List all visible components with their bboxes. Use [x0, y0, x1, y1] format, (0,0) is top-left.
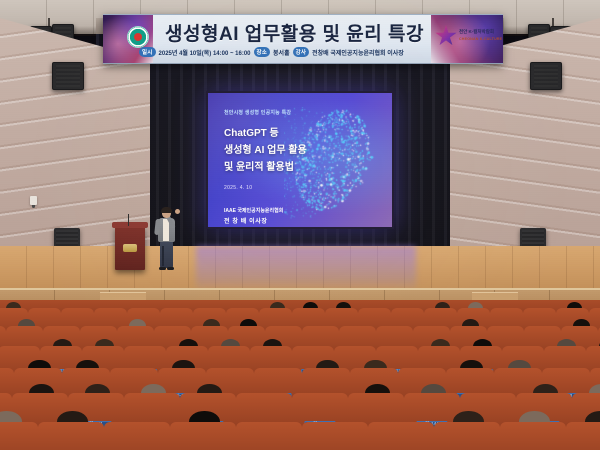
- audience-seating: 나-141나-142나-143나-144다-141다-142다-143다-144…: [0, 300, 600, 450]
- auditorium-photo: 생성형AI 업무활용 및 윤리 특강 일시 2025년 4월 10일(목) 14…: [0, 0, 600, 450]
- audience-seat: [172, 424, 234, 450]
- audience-seat: [568, 424, 600, 450]
- banner-tag-place: 장소: [254, 47, 271, 57]
- audience-seat: 나-142: [502, 424, 564, 450]
- podium-emblem-icon: [123, 244, 137, 252]
- slide-surface: 천안시청 생성형 인공지능 특강 ChatGPT 등 생성형 AI 업무 활용 …: [208, 93, 392, 227]
- slide-title-line-2: 생성형 AI 업무 활용: [224, 142, 344, 159]
- presenter-hair: [161, 207, 172, 213]
- audience-seat: 라-144: [238, 424, 300, 450]
- seat-trim: [170, 422, 236, 450]
- seat-trim: [0, 422, 38, 450]
- podium-microphone-icon: [128, 214, 129, 226]
- presenter-person: [156, 208, 178, 270]
- audience-seat: 라-143: [106, 424, 168, 450]
- screen-light-reflection: [196, 246, 416, 292]
- speaker-rod: [552, 18, 554, 26]
- presenter-shoe-right: [167, 267, 174, 270]
- audience-seat: [40, 424, 102, 450]
- expo-emblem: 천안 K-컬처박람회 CHEONAN K-CULTURE EXPO: [433, 23, 497, 53]
- wooden-podium: [115, 226, 145, 270]
- expo-name-en: CHEONAN K-CULTURE EXPO: [459, 37, 503, 41]
- slide-date: 2025. 4. 10: [224, 185, 252, 191]
- seat-trim: [500, 422, 566, 450]
- audience-seat: 라-142: [0, 424, 36, 450]
- slide-title: ChatGPT 등 생성형 AI 업무 활용 및 윤리적 활용법: [224, 125, 344, 176]
- seat-trim: [566, 422, 600, 450]
- slide-presenter: 전 창 배 이사장: [224, 216, 268, 225]
- seat-trim: [236, 422, 302, 450]
- seat-trim: [104, 422, 170, 450]
- audience-seat: [304, 424, 366, 450]
- slide-title-line-3: 및 윤리적 활용법: [224, 159, 344, 176]
- slide-title-line-1: ChatGPT 등: [224, 125, 344, 142]
- podium-top: [112, 222, 148, 228]
- audience-seat: 나-141: [370, 424, 432, 450]
- banner-tag-lecturer: 강사: [293, 47, 310, 57]
- wall-speaker-right-upper: [530, 62, 562, 90]
- banner-info-line: 일시 2025년 4월 10일(목) 14:00 ~ 16:00 장소 봉서홀 …: [139, 45, 459, 59]
- wall-speaker-left-upper: [52, 62, 84, 90]
- presenter-leg-split: [162, 246, 164, 266]
- speaker-rod: [48, 18, 50, 26]
- event-banner: 생성형AI 업무활용 및 윤리 특강 일시 2025년 4월 10일(목) 14…: [103, 14, 503, 64]
- presenter-shoe-left: [159, 267, 166, 270]
- seat-trim: [368, 422, 434, 450]
- presenter-hand-raised: [175, 209, 180, 214]
- seat-trim: [302, 422, 368, 450]
- wall-lamp-icon: [30, 196, 37, 205]
- banner-text-lecturer: 전창배 국제인공지능윤리협회 이사장: [312, 48, 404, 57]
- expo-name-ko: 천안 K-컬처박람회: [459, 29, 494, 35]
- seat-trim: [434, 422, 500, 450]
- star-emblem-icon: [435, 25, 457, 47]
- banner-text-date: 2025년 4월 10일(목) 14:00 ~ 16:00: [159, 48, 251, 57]
- stage-floor: [0, 246, 600, 292]
- audience-seat: [436, 424, 498, 450]
- banner-text-place: 봉서홀: [273, 48, 290, 57]
- slide-organization: IAAE 국제인공지능윤리협회: [224, 207, 283, 214]
- banner-tag-date: 일시: [139, 47, 156, 57]
- seat-trim: [38, 422, 104, 450]
- slide-eyebrow: 천안시청 생성형 인공지능 특강: [224, 109, 291, 116]
- banner-title: 생성형AI 업무활용 및 윤리 특강: [157, 20, 432, 44]
- projection-screen: 천안시청 생성형 인공지능 특강 ChatGPT 등 생성형 AI 업무 활용 …: [206, 91, 394, 229]
